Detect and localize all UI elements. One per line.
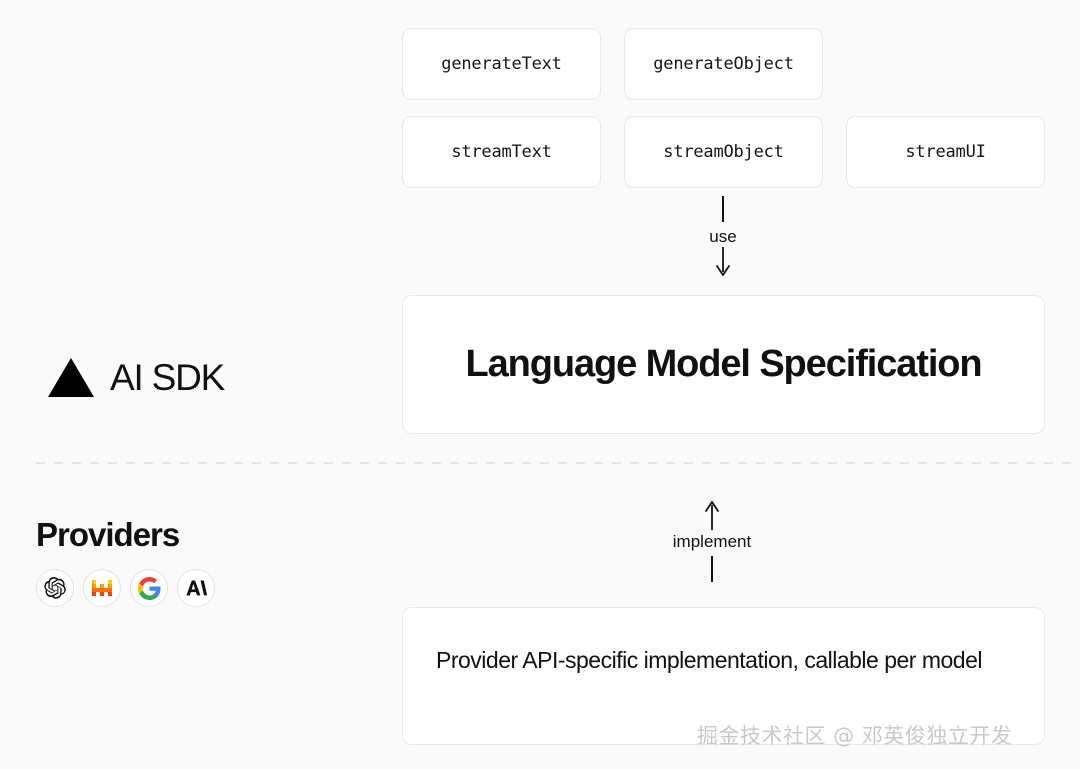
- function-card-label: streamUI: [905, 142, 985, 162]
- function-card-stream-ui[interactable]: streamUI: [846, 116, 1045, 188]
- function-card-stream-object[interactable]: streamObject: [624, 116, 823, 188]
- function-card-label: streamText: [451, 142, 551, 162]
- connector-line-segment: [711, 556, 713, 582]
- connector-implement: implement: [657, 500, 767, 600]
- arrow-up-icon: [703, 500, 721, 530]
- providers-title: Providers: [36, 518, 296, 551]
- mistral-icon: [90, 576, 114, 600]
- spec-box-title: Language Model Specification: [465, 343, 981, 386]
- provider-badge-openai[interactable]: [36, 569, 74, 607]
- language-model-specification-box[interactable]: Language Model Specification: [402, 295, 1045, 434]
- function-card-label: streamObject: [663, 142, 783, 162]
- connector-line-segment: [722, 196, 724, 222]
- vercel-triangle-icon: [48, 358, 94, 397]
- function-card-label: generateObject: [653, 54, 794, 74]
- provider-badge-google[interactable]: [130, 569, 168, 607]
- ai-sdk-brand-label: AI SDK: [110, 359, 224, 396]
- dashed-divider: [36, 462, 1074, 464]
- function-card-generate-object[interactable]: generateObject: [624, 28, 823, 100]
- openai-icon: [43, 576, 67, 600]
- provider-badge-anthropic[interactable]: [177, 569, 215, 607]
- ai-sdk-brand: AI SDK: [48, 358, 224, 397]
- connector-use: use: [668, 196, 778, 292]
- function-card-stream-text[interactable]: streamText: [402, 116, 601, 188]
- connector-implement-label: implement: [673, 533, 751, 550]
- provider-badge-mistral[interactable]: [83, 569, 121, 607]
- google-icon: [138, 577, 161, 600]
- function-card-generate-text[interactable]: generateText: [402, 28, 601, 100]
- provider-implementation-text: Provider API-specific implementation, ca…: [436, 644, 1011, 677]
- diagram-canvas: generateText generateObject streamText s…: [0, 0, 1080, 769]
- arrow-down-icon: [714, 247, 732, 277]
- providers-section: Providers: [36, 518, 296, 607]
- function-card-label: generateText: [441, 54, 561, 74]
- provider-icon-row: [36, 569, 296, 607]
- anthropic-icon: [184, 577, 208, 599]
- provider-implementation-box[interactable]: Provider API-specific implementation, ca…: [402, 607, 1045, 745]
- connector-use-label: use: [709, 228, 736, 245]
